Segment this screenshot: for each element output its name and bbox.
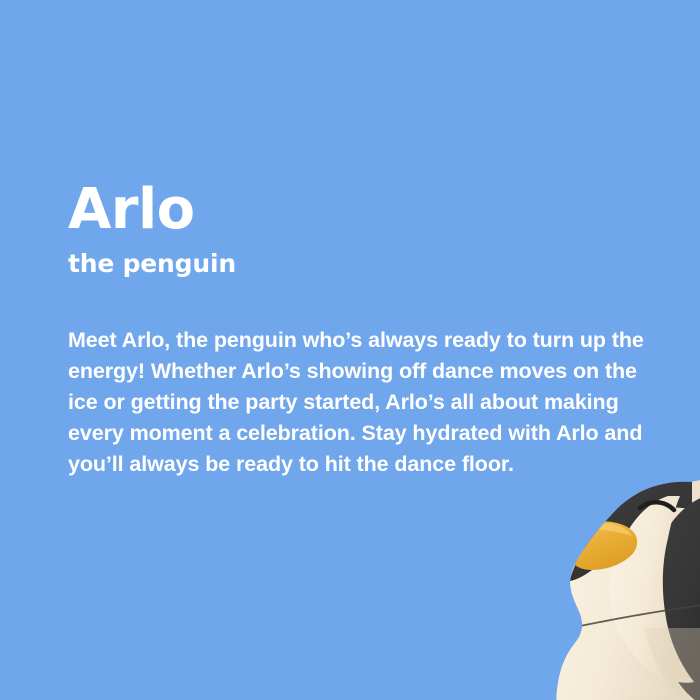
character-subtitle: the penguin <box>68 250 668 278</box>
penguin-illustration <box>540 478 700 700</box>
character-description: Meet Arlo, the penguin who’s always read… <box>68 325 668 480</box>
character-text-block: Arlo the penguin Meet Arlo, the penguin … <box>68 182 668 480</box>
penguin-body <box>556 478 700 700</box>
character-card: Arlo the penguin Meet Arlo, the penguin … <box>0 0 700 700</box>
page-title: Arlo <box>68 182 668 238</box>
